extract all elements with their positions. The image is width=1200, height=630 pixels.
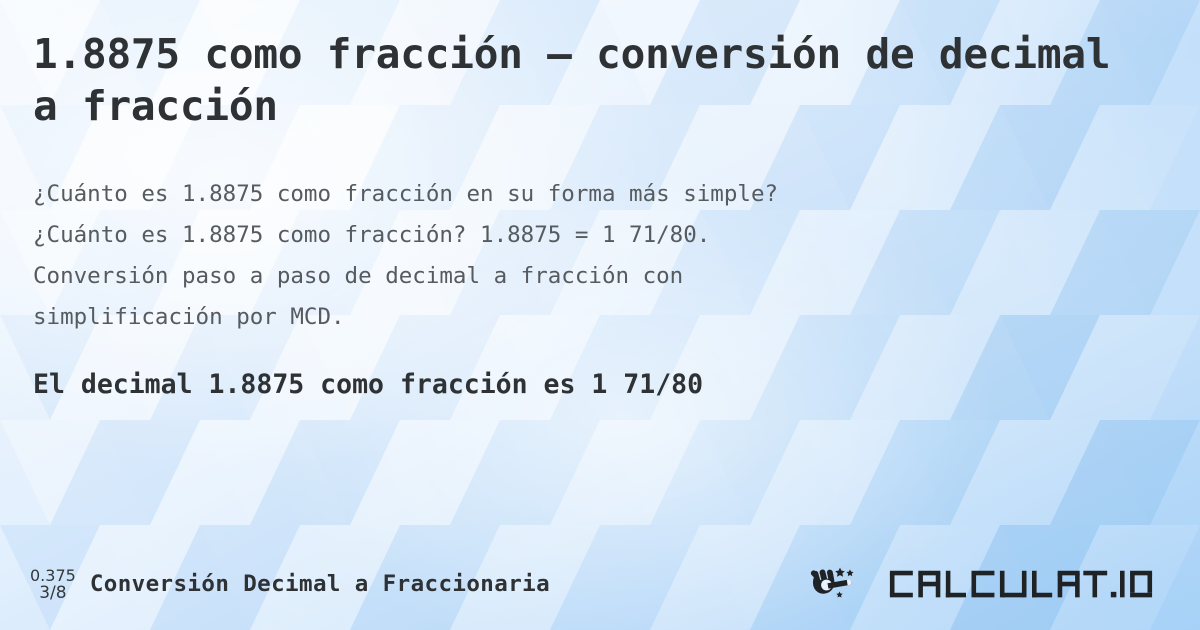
lead-line-2: ¿Cuánto es 1.8875 como fracción? 1.8875 … bbox=[33, 215, 1093, 256]
logo-decimal-value: 0.375 bbox=[30, 567, 76, 584]
page-title: 1.8875 como fracción – conversión de dec… bbox=[33, 28, 1123, 132]
lead-line-4: simplificación por MCD. bbox=[33, 297, 1093, 338]
logo-fraction-value: 3/8 bbox=[30, 584, 76, 602]
main-content: 1.8875 como fracción – conversión de dec… bbox=[33, 28, 1140, 402]
lead-line-3: Conversión paso a paso de decimal a frac… bbox=[33, 256, 1093, 297]
lead-line-1: ¿Cuánto es 1.8875 como fracción en su fo… bbox=[33, 174, 1093, 215]
decimal-fraction-logo: 0.375 3/8 bbox=[30, 565, 76, 603]
magic-wand-hand-icon bbox=[805, 564, 867, 604]
footer: 0.375 3/8 Conversión Decimal a Fracciona… bbox=[0, 538, 1200, 630]
calculatio-brand[interactable] bbox=[805, 564, 1174, 604]
share-card: 1.8875 como fracción – conversión de dec… bbox=[0, 0, 1200, 630]
site-name: Conversión Decimal a Fraccionaria bbox=[90, 571, 550, 597]
calculatio-wordmark bbox=[876, 568, 1166, 601]
lead-paragraph: ¿Cuánto es 1.8875 como fracción en su fo… bbox=[33, 132, 1093, 338]
answer-statement: El decimal 1.8875 como fracción es 1 71/… bbox=[33, 338, 1140, 402]
footer-brand[interactable]: 0.375 3/8 Conversión Decimal a Fracciona… bbox=[30, 565, 550, 603]
